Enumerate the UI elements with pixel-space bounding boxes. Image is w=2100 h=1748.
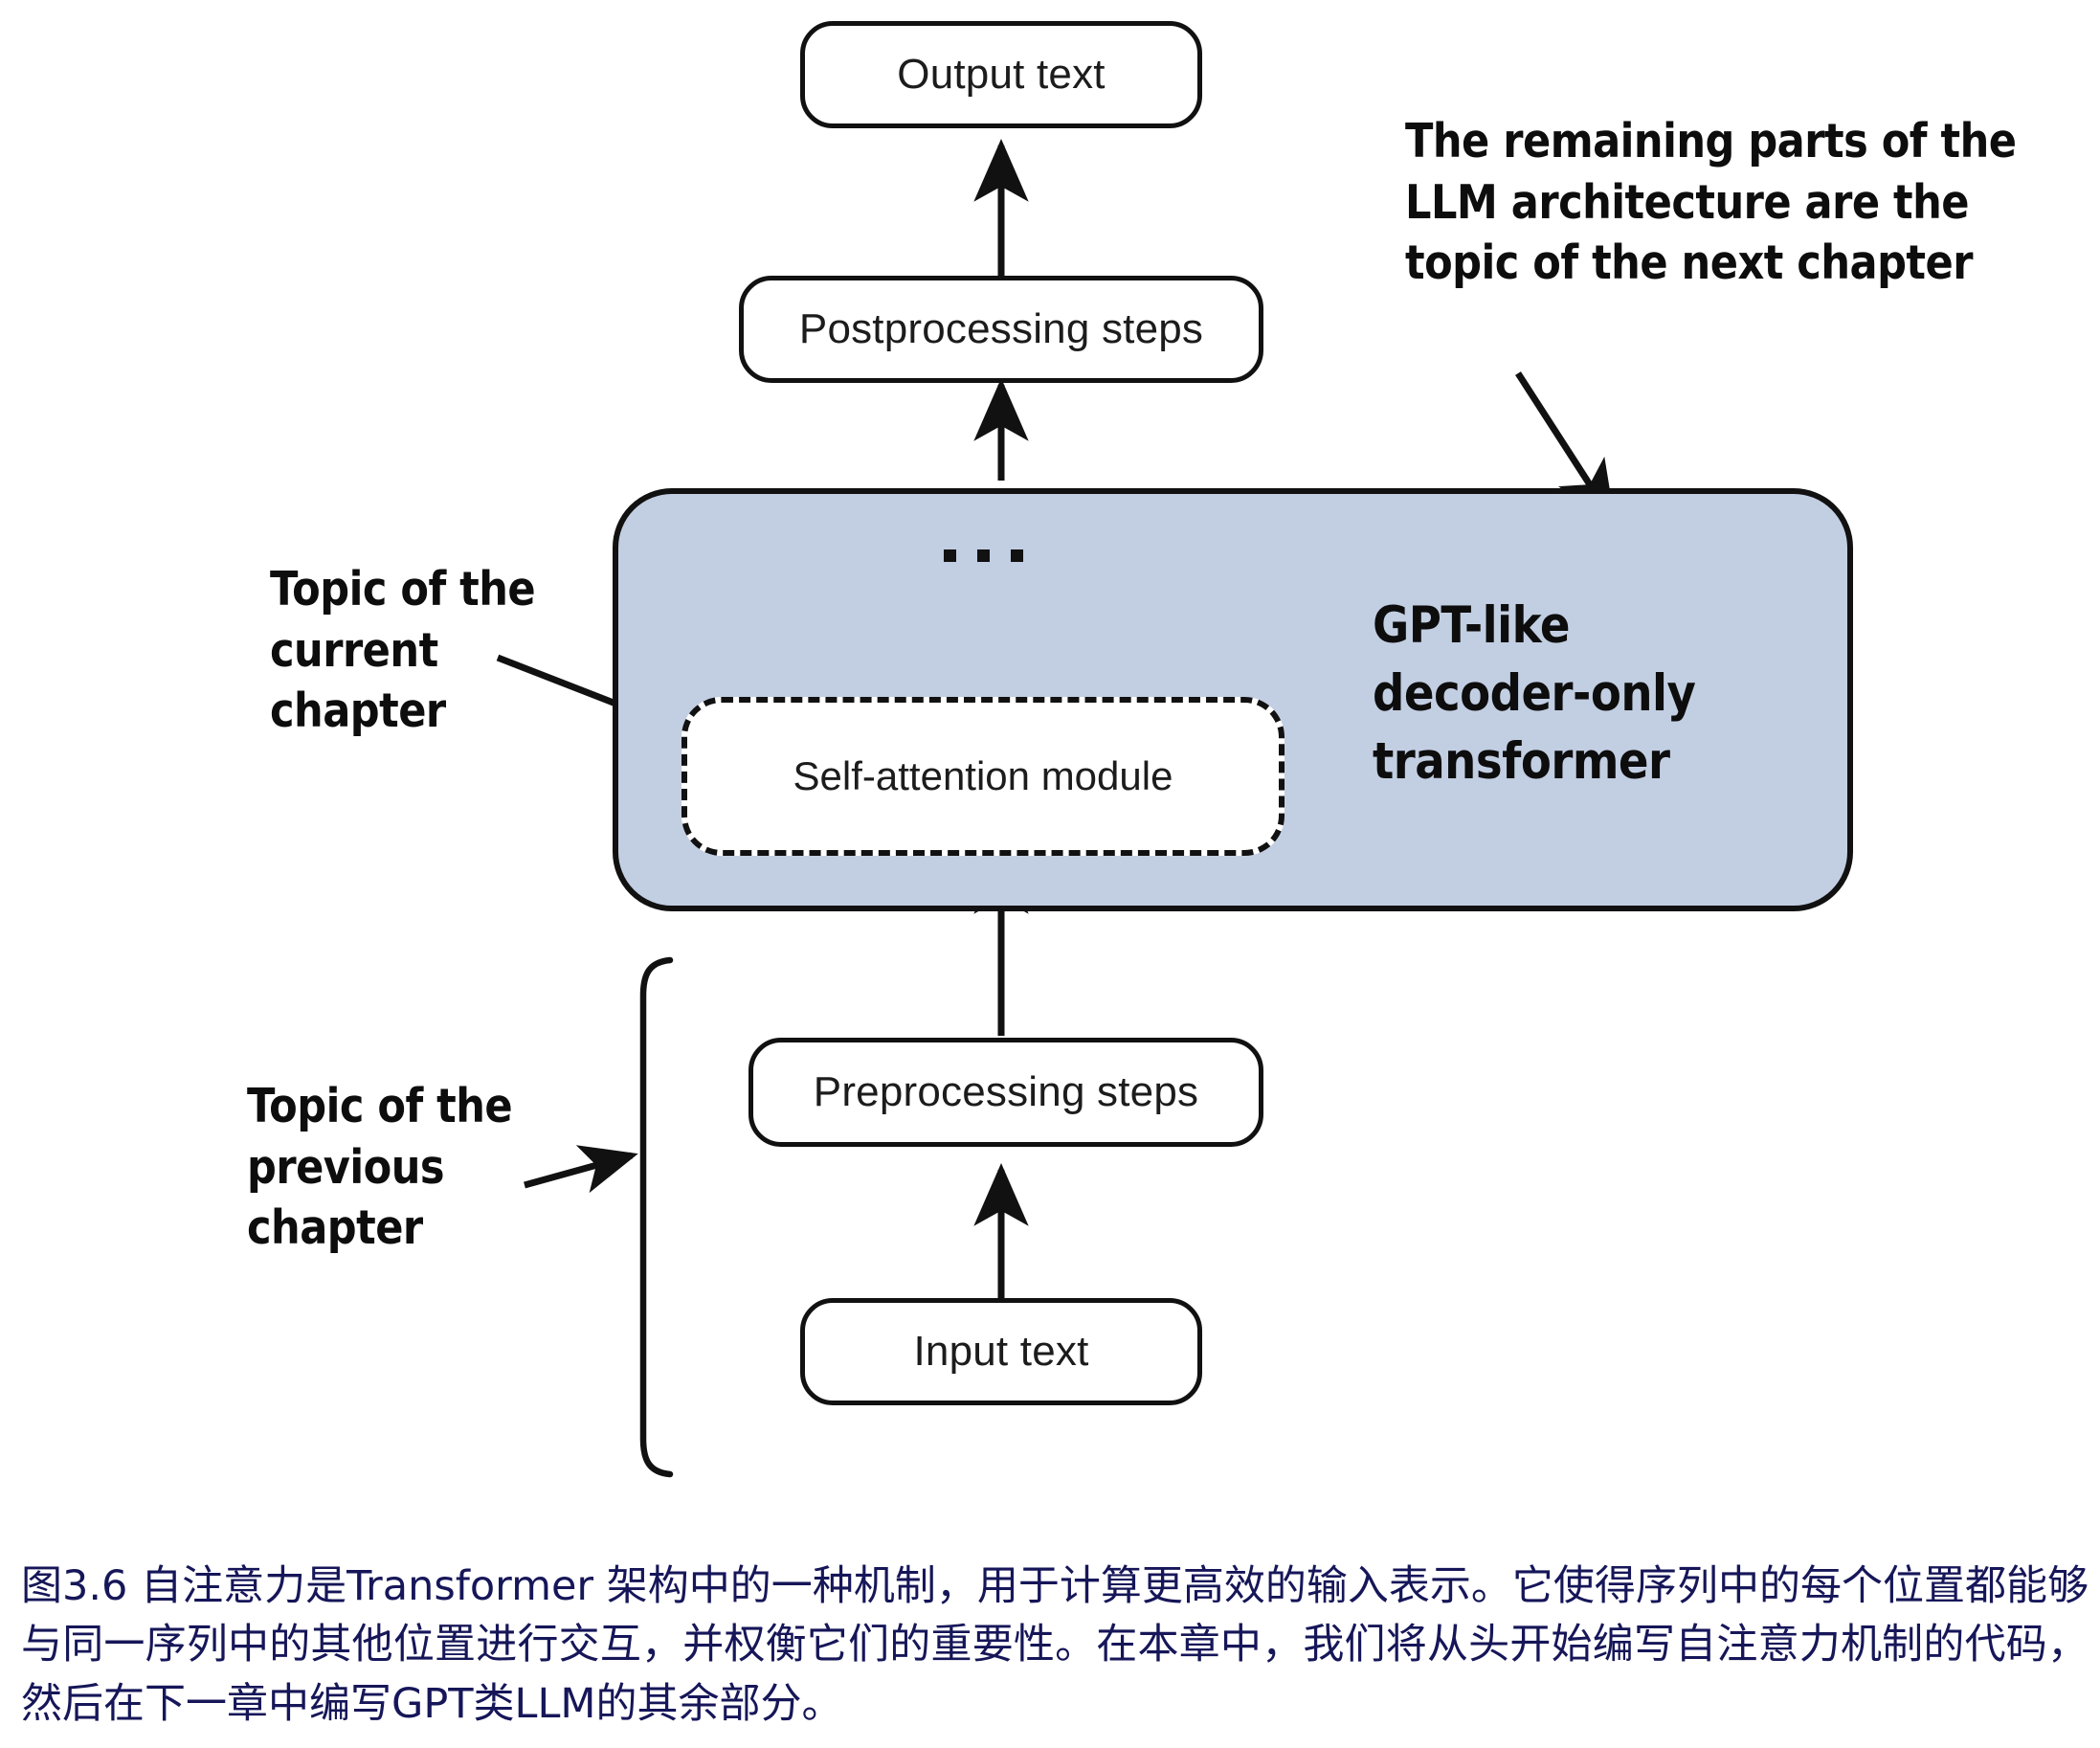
callout-next-chapter-line-3: topic of the next chapter — [1405, 233, 2016, 294]
figure-canvas: GPT-like decoder-only transformer Output… — [0, 0, 2100, 1748]
node-postprocessing-steps[interactable]: Postprocessing steps — [739, 276, 1263, 383]
node-preprocessing-steps[interactable]: Preprocessing steps — [748, 1038, 1263, 1147]
transformer-label-line-2: decoder-only — [1373, 660, 1695, 728]
node-output-text[interactable]: Output text — [800, 21, 1202, 128]
callout-current-chapter-line-2: current — [270, 620, 535, 682]
callout-next-chapter: The remaining parts of the LLM architect… — [1405, 111, 2016, 294]
node-self-attention-module[interactable]: Self-attention module — [681, 697, 1285, 856]
ellipsis-dot-1 — [944, 549, 956, 562]
callout-next-chapter-line-2: LLM architecture are the — [1405, 172, 2016, 234]
ellipsis-dot-2 — [977, 549, 990, 562]
callout-previous-chapter-line-2: previous — [247, 1137, 512, 1199]
node-input-text[interactable]: Input text — [800, 1298, 1202, 1405]
callout-current-chapter-line-3: chapter — [270, 681, 535, 742]
callout-previous-chapter-line-1: Topic of the — [247, 1076, 512, 1137]
ellipsis-dots — [944, 549, 1023, 562]
callout-previous-chapter-line-3: chapter — [247, 1198, 512, 1259]
callout-current-chapter: Topic of the current chapter — [270, 559, 535, 742]
callout-next-chapter-line-1: The remaining parts of the — [1405, 111, 2016, 172]
arrow-previous-chapter-callout — [525, 1155, 632, 1185]
figure-caption: 图3.6 自注意力是Transformer 架构中的一种机制，用于计算更高效的输… — [21, 1558, 2089, 1734]
callout-current-chapter-line-1: Topic of the — [270, 559, 535, 620]
ellipsis-dot-3 — [1011, 549, 1023, 562]
callout-previous-chapter: Topic of the previous chapter — [247, 1076, 512, 1259]
transformer-label-line-3: transformer — [1373, 728, 1695, 796]
transformer-label-line-1: GPT-like — [1373, 592, 1695, 660]
transformer-container-label: GPT-like decoder-only transformer — [1373, 592, 1695, 796]
previous-chapter-bracket — [643, 960, 670, 1474]
